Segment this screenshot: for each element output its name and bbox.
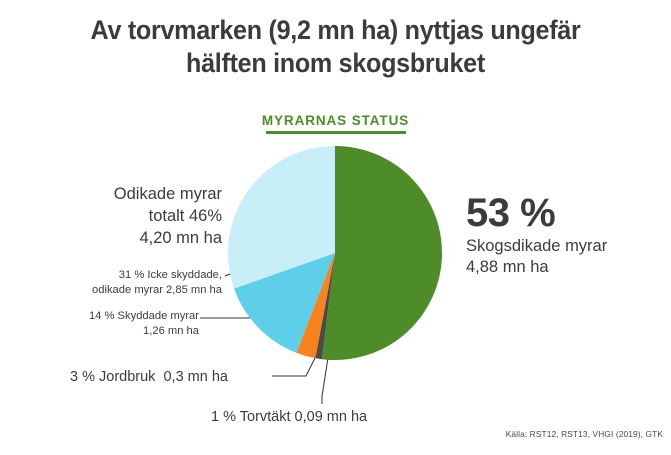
pie-chart-svg	[228, 146, 442, 360]
highlight-percent: 53 %	[466, 192, 666, 234]
pie-slice-skogsdikade-myrar[interactable]	[322, 146, 442, 360]
label-skyddade-myrar: 14 % Skyddade myrar 1,26 mn ha	[40, 309, 199, 339]
highlight-area: 4,88 mn ha	[466, 257, 666, 278]
pie-chart	[228, 146, 442, 360]
label-jordbruk: 3 % Jordbruk 0,3 mn ha	[70, 368, 228, 387]
chart-section-heading-underline	[266, 131, 406, 134]
highlight-name: Skogsdikade myrar	[466, 236, 666, 257]
label-icke-skyddade-odikade-myrar: 31 % Icke skyddade, odikade myrar 2,85 m…	[40, 268, 222, 298]
page-title: Av torvmarken (9,2 mn ha) nyttjas ungefä…	[23, 14, 647, 80]
leader-line-torvtakt	[322, 358, 328, 404]
pie-slices	[228, 146, 442, 360]
page-title-line-1: Av torvmarken (9,2 mn ha) nyttjas ungefä…	[23, 14, 647, 47]
source-credit: Källa: RST12, RST13, VHGI (2019), GTK	[506, 429, 663, 439]
label-odikade-myrar: Odikade myrar totalt 46% 4,20 mn ha	[45, 183, 222, 249]
label-torvtakt: 1 % Torvtäkt 0,09 mn ha	[211, 408, 367, 427]
chart-section-heading: MYRARNAS STATUS	[0, 112, 671, 132]
chart-section-heading-label: MYRARNAS STATUS	[262, 113, 409, 132]
highlight-callout: 53 % Skogsdikade myrar 4,88 mn ha	[466, 192, 666, 278]
infographic-canvas: Av torvmarken (9,2 mn ha) nyttjas ungefä…	[0, 0, 671, 455]
page-title-line-2: hälften inom skogsbruket	[23, 47, 647, 80]
